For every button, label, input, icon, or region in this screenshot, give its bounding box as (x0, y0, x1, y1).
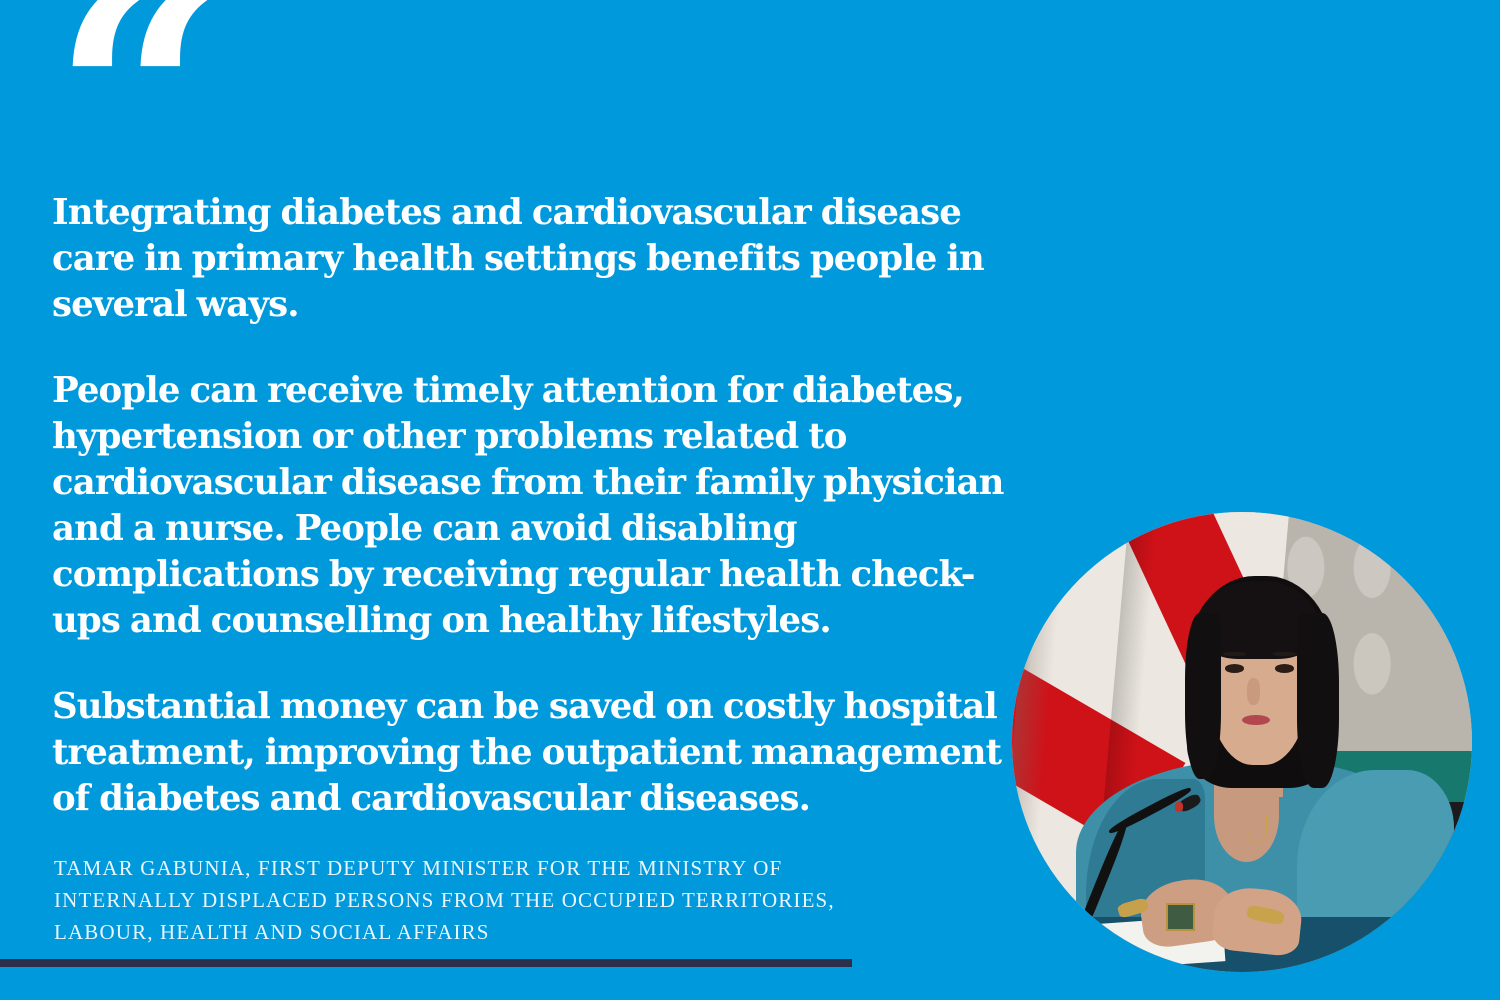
quote-text-block: Integrating diabetes and cardiovascular … (52, 190, 1012, 822)
bottom-divider (0, 959, 852, 967)
quote-paragraph-2: People can receive timely attention for … (52, 368, 1012, 644)
person-nose (1247, 678, 1261, 706)
person-necklace (1247, 816, 1267, 845)
microphone-indicator-light (1175, 802, 1182, 812)
person-eye-right (1275, 664, 1294, 673)
person-eyebrow-left (1223, 652, 1246, 656)
quote-paragraph-3: Substantial money can be saved on costly… (52, 684, 1012, 822)
person-eye-left (1225, 664, 1244, 673)
quote-attribution: Tamar Gabunia, First Deputy Minister for… (54, 852, 914, 948)
quote-paragraph-1: Integrating diabetes and cardiovascular … (52, 190, 1012, 328)
portrait-scene (1012, 512, 1472, 972)
person-eyebrow-right (1273, 652, 1296, 656)
portrait-photo (1012, 512, 1472, 972)
person-hair-left (1185, 613, 1222, 779)
person-hair-right (1297, 613, 1338, 788)
quote-card: “ Integrating diabetes and cardiovascula… (0, 0, 1500, 1000)
person-ring (1166, 903, 1195, 931)
